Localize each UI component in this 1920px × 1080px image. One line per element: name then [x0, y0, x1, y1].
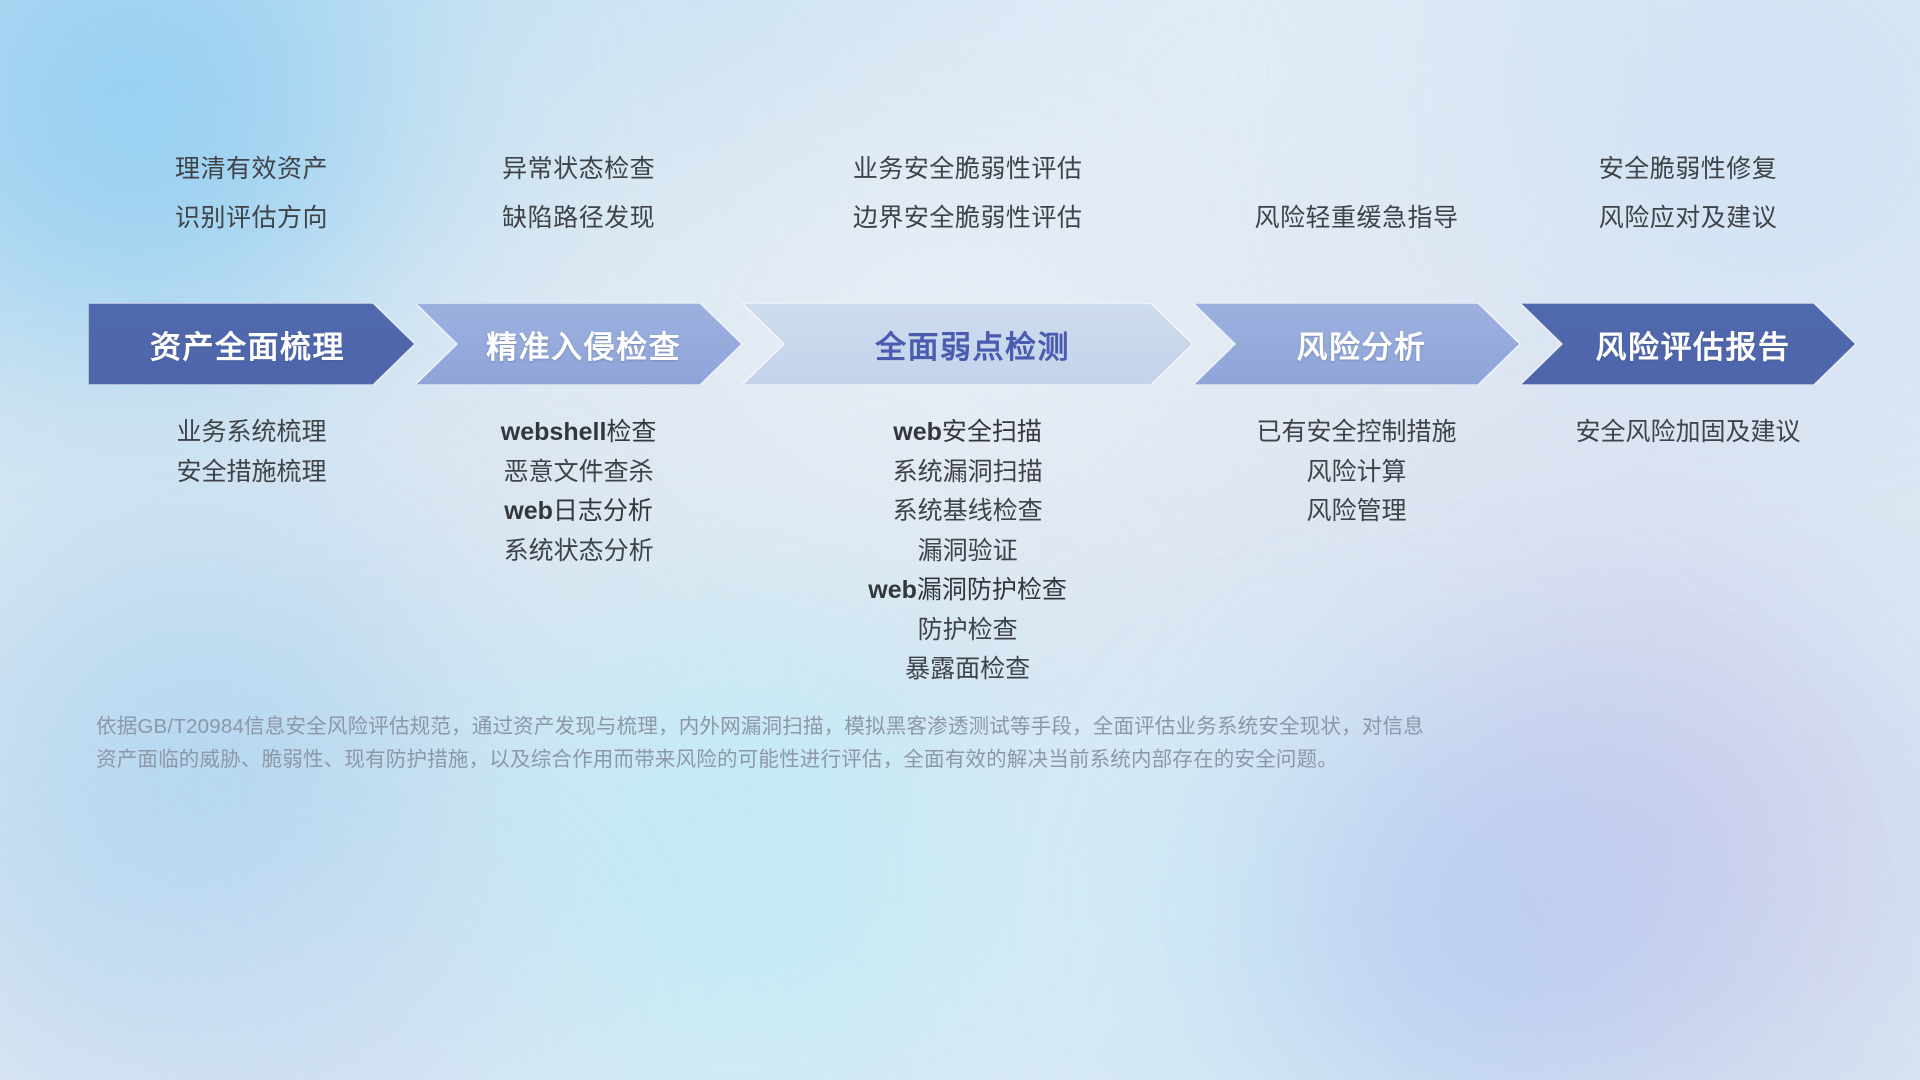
bottom-item: web漏洞防护检查 — [708, 571, 1228, 611]
bottom-item: 风险计算 — [1097, 453, 1617, 493]
bottom-item: 暴露面检查 — [708, 650, 1228, 690]
step-5-top-items: 安全脆弱性修复风险应对及建议 — [1428, 145, 1920, 243]
process-chevron-band: 资产全面梳理精准入侵检查全面弱点检测风险分析风险评估报告 — [88, 303, 1856, 385]
slide-content: 理清有效资产识别评估方向异常状态检查缺陷路径发现业务安全脆弱性评估边界安全脆弱性… — [0, 0, 1920, 1080]
top-item: 风险应对及建议 — [1428, 194, 1920, 243]
bottom-item-text: 日志分析 — [553, 497, 653, 525]
process-step-5[interactable]: 风险评估报告 — [1520, 303, 1856, 385]
top-item: 安全脆弱性修复 — [1428, 145, 1920, 194]
step-5-bottom-items: 安全风险加固及建议 — [1428, 413, 1920, 453]
process-step-3[interactable]: 全面弱点检测 — [742, 303, 1193, 385]
footer-line-2: 资产面临的威胁、脆弱性、现有防护措施，以及综合作用而带来风险的可能性进行评估，全… — [96, 743, 1770, 776]
slide-canvas: 理清有效资产识别评估方向异常状态检查缺陷路径发现业务安全脆弱性评估边界安全脆弱性… — [0, 0, 1920, 1080]
bottom-item-keyword: web — [868, 576, 917, 604]
bottom-item-text: 检查 — [606, 418, 656, 446]
bottom-item: 防护检查 — [708, 611, 1228, 651]
process-step-label: 风险评估报告 — [1596, 322, 1791, 367]
process-step-label: 资产全面梳理 — [150, 322, 345, 367]
bottom-item-keyword: web — [893, 418, 942, 446]
footer-description: 依据GB/T20984信息安全风险评估规范，通过资产发现与梳理，内外网漏洞扫描，… — [96, 710, 1770, 776]
bottom-item: 安全风险加固及建议 — [1428, 413, 1920, 453]
process-step-label: 精准入侵检查 — [486, 322, 681, 367]
process-step-2[interactable]: 精准入侵检查 — [415, 303, 742, 385]
bottom-item: 漏洞验证 — [708, 532, 1228, 572]
bottom-item-keyword: web — [504, 497, 553, 525]
bottom-item-keyword: webshell — [501, 418, 607, 446]
top-item: 业务安全脆弱性评估 — [708, 145, 1228, 194]
bottom-item-text: 漏洞防护检查 — [917, 576, 1067, 604]
footer-line-1: 依据GB/T20984信息安全风险评估规范，通过资产发现与梳理，内外网漏洞扫描，… — [96, 710, 1770, 743]
bottom-item: 风险管理 — [1097, 492, 1617, 532]
process-step-4[interactable]: 风险分析 — [1193, 303, 1520, 385]
process-step-label: 全面弱点检测 — [875, 322, 1070, 367]
process-step-1[interactable]: 资产全面梳理 — [88, 303, 415, 385]
bottom-item-text: 安全扫描 — [942, 418, 1042, 446]
process-step-label: 风险分析 — [1297, 322, 1427, 367]
